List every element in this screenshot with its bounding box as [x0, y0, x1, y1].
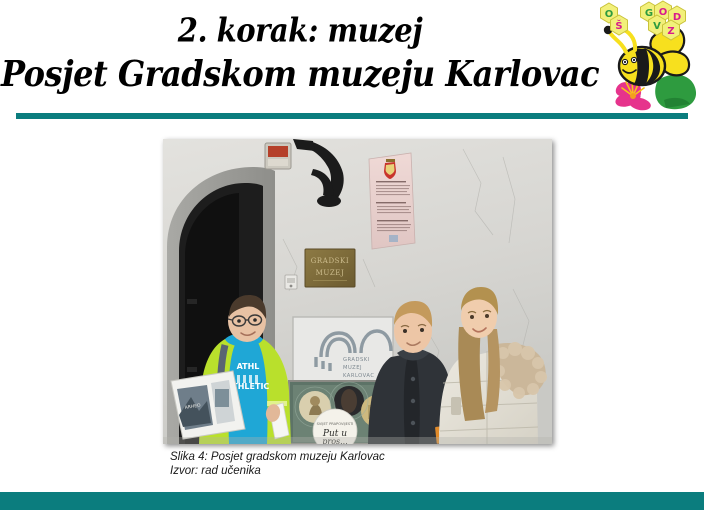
svg-text:MUZEJ: MUZEJ [316, 269, 345, 277]
photo-frame: GRADSKI MUZEJ [163, 139, 552, 444]
museum-visit-photo: GRADSKI MUZEJ [163, 139, 552, 444]
leaf-shape [655, 75, 696, 110]
svg-text:V: V [653, 21, 661, 32]
svg-text:O: O [605, 9, 614, 20]
school-bee-logo: O Š G O D V Z [596, 0, 700, 116]
svg-text:MUZEJ: MUZEJ [343, 365, 362, 371]
info-plaque [369, 153, 415, 249]
held-magazine: ARHEO [171, 371, 245, 439]
figure-caption: Slika 4: Posjet gradskom muzeju Karlovac… [170, 450, 590, 478]
caption-line-1: Slika 4: Posjet gradskom muzeju Karlovac [170, 450, 590, 464]
title-block: 2. korak: muzej Posjet Gradskom muzeju K… [0, 8, 600, 94]
svg-text:Z: Z [667, 26, 674, 37]
svg-text:GRADSKI: GRADSKI [343, 357, 370, 363]
footer-accent-bar [0, 492, 704, 510]
page-title-line-1: 2. korak: muzej [0, 8, 600, 53]
slide-header: 2. korak: muzej Posjet Gradskom muzeju K… [0, 0, 704, 118]
page-title-line-2: Posjet Gradskom muzeju Karlovac [0, 48, 600, 100]
svg-text:G: G [645, 8, 653, 19]
svg-text:ATHL: ATHL [237, 362, 260, 371]
slide-root: 2. korak: muzej Posjet Gradskom muzeju K… [0, 0, 704, 510]
header-divider-rule [16, 113, 688, 119]
svg-text:KARLOVAC: KARLOVAC [343, 373, 374, 379]
svg-text:Š: Š [615, 19, 622, 32]
svg-text:SVIJET PRAPOVIJESTI: SVIJET PRAPOVIJESTI [317, 422, 354, 426]
svg-text:GRADSKI: GRADSKI [311, 257, 350, 265]
brass-plaque: GRADSKI MUZEJ [305, 249, 355, 287]
caption-line-2: Izvor: rad učenika [170, 464, 590, 478]
